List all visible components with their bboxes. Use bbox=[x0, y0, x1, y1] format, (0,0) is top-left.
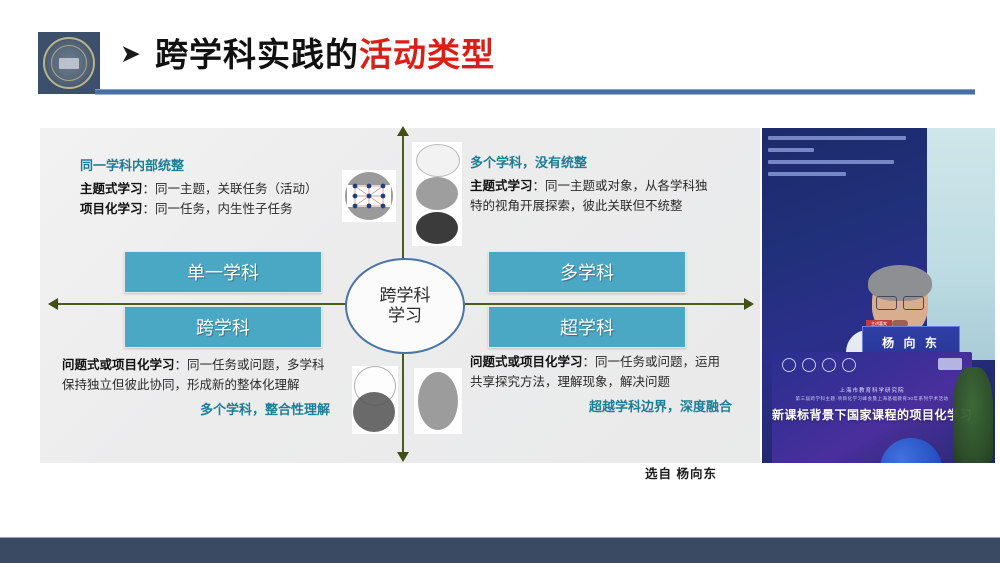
box-interdisciplinary[interactable]: 跨学科 bbox=[124, 306, 322, 348]
quadrant-text-top-right: 多个学科，没有统整 主题式学习：同一主题或对象，从各学科独特的视角开展探索，彼此… bbox=[470, 152, 720, 217]
slide: ➤ 跨学科实践的活动类型 bbox=[0, 0, 1000, 562]
single-ellipse-icon bbox=[414, 368, 462, 434]
center-node-line1: 跨学科 bbox=[380, 286, 431, 306]
quadrant-text-top-left: 同一学科内部统整 主题式学习：同一主题，关联任务（活动） 项目化学习：同一任务，… bbox=[80, 155, 330, 220]
box-single-discipline[interactable]: 单一学科 bbox=[124, 251, 322, 293]
q-tl-heading: 同一学科内部统整 bbox=[80, 155, 330, 176]
box-multidisciplinary[interactable]: 多学科 bbox=[488, 251, 686, 293]
axis-arrow-down-icon bbox=[397, 452, 409, 462]
box-transdisciplinary[interactable]: 超学科 bbox=[488, 306, 686, 348]
podium-brand-logo-icon bbox=[938, 358, 962, 370]
title-accent: 活动类型 bbox=[359, 36, 495, 73]
overlapping-circles-icon bbox=[352, 366, 398, 434]
source-caption: 选自 杨向东 bbox=[645, 463, 717, 482]
q-tl-line2: 项目化学习：同一任务，内生性子任务 bbox=[80, 199, 330, 219]
q-br-line1: 问题式或项目化学习：同一任务或问题，运用共享探究方法，理解现象，解决问题 bbox=[470, 352, 732, 393]
title-underline bbox=[95, 89, 975, 95]
three-stacked-circles-icon bbox=[412, 142, 462, 246]
page-title: ➤ 跨学科实践的活动类型 bbox=[120, 28, 495, 76]
q-bl-footer-heading: 多个学科，整合性理解 bbox=[62, 399, 330, 420]
slide-footer-bar bbox=[0, 537, 1000, 563]
podium-banner: 上海市教育科学研究院 第三届跨学科主题·项目化学习峰会暨上海基础教育30年系列学… bbox=[772, 352, 972, 463]
speaker-photo: 2023 主讲嘉宾 杨 向 东 上海市教育科学研究院 第三届跨学科主题·项目化学… bbox=[762, 128, 995, 463]
backdrop-text-lines bbox=[768, 136, 918, 184]
q-tr-line1: 主题式学习：同一主题或对象，从各学科独特的视角开展探索，彼此关联但不统整 bbox=[470, 176, 720, 217]
podium-line2: 第三届跨学科主题·项目化学习峰会暨上海基础教育30年系列学术活动 bbox=[772, 396, 972, 402]
podium-logo-icons bbox=[782, 358, 856, 372]
q-br-footer-heading: 超越学科边界，深度融合 bbox=[470, 396, 732, 417]
title-main: 跨学科实践的 bbox=[155, 36, 359, 73]
center-node-line2: 学习 bbox=[388, 306, 422, 326]
podium-line1: 上海市教育科学研究院 bbox=[772, 386, 972, 394]
axis-arrow-up-icon bbox=[397, 126, 409, 136]
quadrant-text-bottom-left: 问题式或项目化学习：同一任务或问题，多学科保持独立但彼此协同，形成新的整体化理解… bbox=[62, 355, 330, 420]
q-tr-heading: 多个学科，没有统整 bbox=[470, 152, 720, 173]
slide-header: ➤ 跨学科实践的活动类型 bbox=[0, 0, 1000, 110]
photo-plant bbox=[953, 367, 993, 463]
network-nodes-circle-icon bbox=[342, 170, 396, 222]
university-seal-icon bbox=[38, 32, 100, 94]
center-node-interdisciplinary-learning: 跨学科 学习 bbox=[345, 258, 465, 354]
glasses-icon bbox=[876, 296, 924, 308]
axis-arrow-right-icon bbox=[744, 298, 754, 310]
arrow-bullet-icon: ➤ bbox=[120, 42, 141, 67]
axis-arrow-left-icon bbox=[48, 298, 58, 310]
q-bl-line1: 问题式或项目化学习：同一任务或问题，多学科保持独立但彼此协同，形成新的整体化理解 bbox=[62, 355, 330, 396]
quadrant-text-bottom-right: 问题式或项目化学习：同一任务或问题，运用共享探究方法，理解现象，解决问题 超越学… bbox=[470, 352, 732, 417]
podium-title: 新课标背景下国家课程的项目化学习 bbox=[772, 406, 972, 423]
q-tl-line1: 主题式学习：同一主题，关联任务（活动） bbox=[80, 179, 330, 199]
